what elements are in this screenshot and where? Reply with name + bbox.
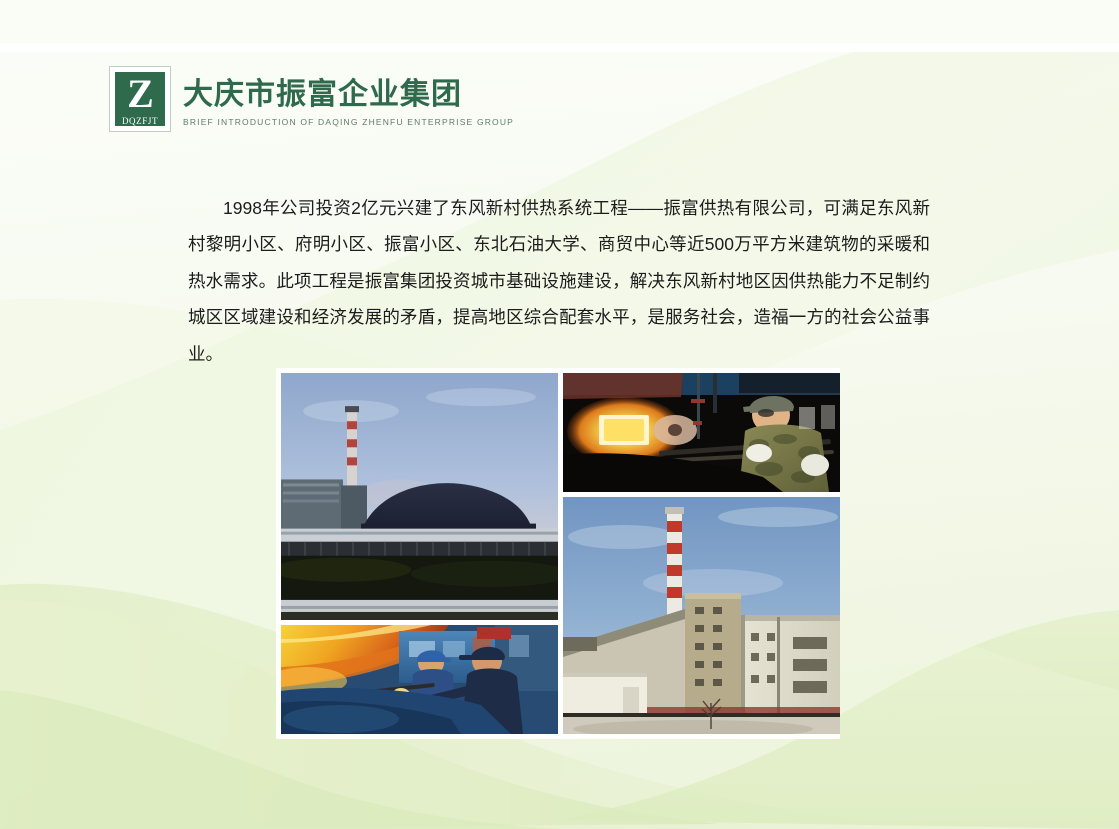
company-logo: Z DQZFJT [109,66,171,132]
brand-header: Z DQZFJT 大庆市振富企业集团 BRIEF INTRODUCTION OF… [109,66,514,132]
photo-boiler-house-building [563,497,840,734]
brand-text-block: 大庆市振富企业集团 BRIEF INTRODUCTION OF DAQING Z… [183,66,514,128]
top-band-divider [0,43,1119,52]
logo-badge: Z DQZFJT [113,70,167,128]
photo-collage [276,368,840,739]
logo-abbreviation: DQZFJT [122,116,158,126]
introduction-paragraph: 1998年公司投资2亿元兴建了东风新村供热系统工程——振富供热有限公司，可满足东… [188,190,930,373]
photo-heating-plant-exterior [281,373,558,620]
slide-page: Z DQZFJT 大庆市振富企业集团 BRIEF INTRODUCTION OF… [0,0,1119,829]
logo-letter-z: Z [127,73,153,115]
company-name-subtitle: BRIEF INTRODUCTION OF DAQING ZHENFU ENTE… [183,116,514,128]
photo-worker-stoking-furnace [563,373,840,492]
top-band [0,0,1119,43]
company-name-title: 大庆市振富企业集团 [183,78,514,112]
photo-workers-control-panel [281,625,558,734]
